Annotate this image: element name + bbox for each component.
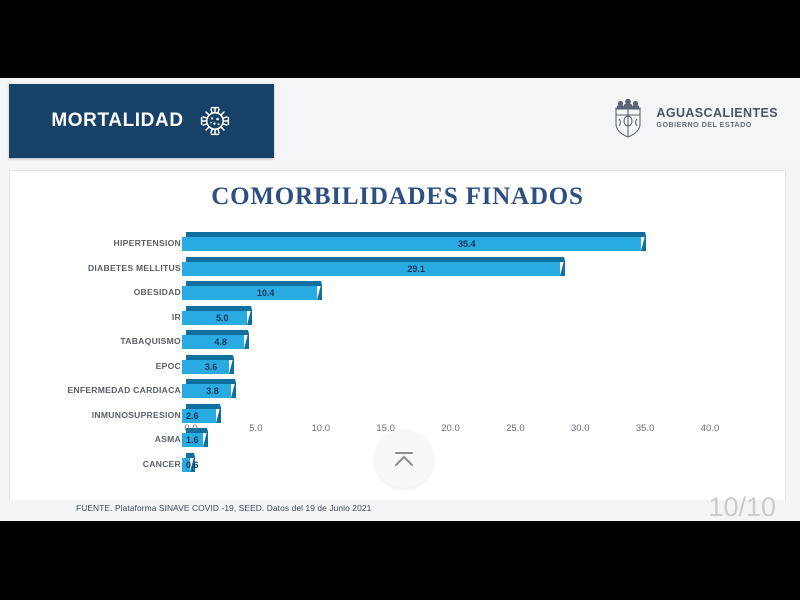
bar — [182, 257, 565, 276]
screenshot-viewport: MORTALIDAD — [0, 0, 800, 600]
bar-side-face — [247, 306, 252, 325]
aguascalientes-coat-of-arms-icon — [608, 96, 648, 140]
x-tick-label: 35.0 — [636, 423, 655, 434]
virus-icon — [198, 104, 232, 138]
bar-side-face — [216, 404, 221, 423]
bar-side-face — [560, 257, 565, 276]
mortalidad-badge: MORTALIDAD — [9, 84, 274, 158]
bar-side-face — [641, 232, 646, 251]
government-logo: AGUASCALIENTES GOBIERNO DEL ESTADO — [608, 96, 778, 140]
category-label: CANCER — [143, 459, 181, 469]
slide-footer: FUENTE. Plataforma SINAVE COVID -19, SEE… — [0, 500, 800, 521]
bar-value-label: 10.4 — [257, 286, 275, 300]
bar-value-label: 0.6 — [186, 458, 199, 472]
x-tick-label: 20.0 — [441, 423, 460, 434]
bar — [182, 281, 322, 300]
government-subtitle: GOBIERNO DEL ESTADO — [656, 121, 778, 129]
category-label: IR — [172, 312, 181, 322]
category-label: OBESIDAD — [134, 287, 181, 297]
x-tick-label: 25.0 — [506, 423, 525, 434]
bar — [182, 232, 646, 251]
bar-value-label: 35.4 — [458, 237, 476, 251]
mortalidad-label: MORTALIDAD — [51, 110, 183, 132]
category-label: EPOC — [156, 361, 181, 371]
government-logo-text: AGUASCALIENTES GOBIERNO DEL ESTADO — [656, 107, 778, 128]
bar-value-label: 3.8 — [206, 384, 219, 398]
bar-value-label: 3.6 — [205, 360, 218, 374]
bar-value-label: 5.0 — [216, 311, 229, 325]
letterbox-bottom — [0, 521, 800, 600]
government-name: AGUASCALIENTES — [656, 107, 778, 121]
x-tick-label: 10.0 — [312, 423, 331, 434]
bar-front-face — [182, 335, 244, 349]
x-tick-label: 30.0 — [571, 423, 590, 434]
bar-side-face — [244, 330, 249, 349]
bar-side-face — [231, 379, 236, 398]
chart-title: COMORBILIDADES FINADOS — [10, 183, 785, 211]
category-label: DIABETES MELLITUS — [88, 263, 181, 273]
bar-front-face — [182, 262, 560, 276]
page-counter: 10/10 — [708, 492, 776, 521]
letterbox-top — [0, 0, 800, 78]
bar-side-face — [317, 281, 322, 300]
slide-content: MORTALIDAD — [0, 78, 800, 521]
bar-value-label: 4.8 — [214, 335, 227, 349]
bar-front-face — [182, 286, 317, 300]
x-tick-label: 0.0 — [184, 423, 197, 434]
category-label: HIPERTENSION — [114, 238, 181, 248]
bar-side-face — [229, 355, 234, 374]
source-note: FUENTE. Plataforma SINAVE COVID -19, SEE… — [76, 503, 371, 513]
category-label: ENFERMEDAD CARDIACA — [67, 385, 181, 395]
category-label: INMUNOSUPRESION — [92, 410, 181, 420]
x-tick-label: 40.0 — [701, 423, 720, 434]
collapse-up-button[interactable] — [375, 430, 433, 488]
bar-value-label: 29.1 — [407, 262, 425, 276]
collapse-up-icon — [391, 447, 417, 471]
bar-front-face — [182, 311, 247, 325]
x-tick-label: 5.0 — [249, 423, 262, 434]
category-label: TABAQUISMO — [120, 336, 181, 346]
bar-front-face — [182, 237, 641, 251]
slide-header: MORTALIDAD — [0, 78, 800, 163]
